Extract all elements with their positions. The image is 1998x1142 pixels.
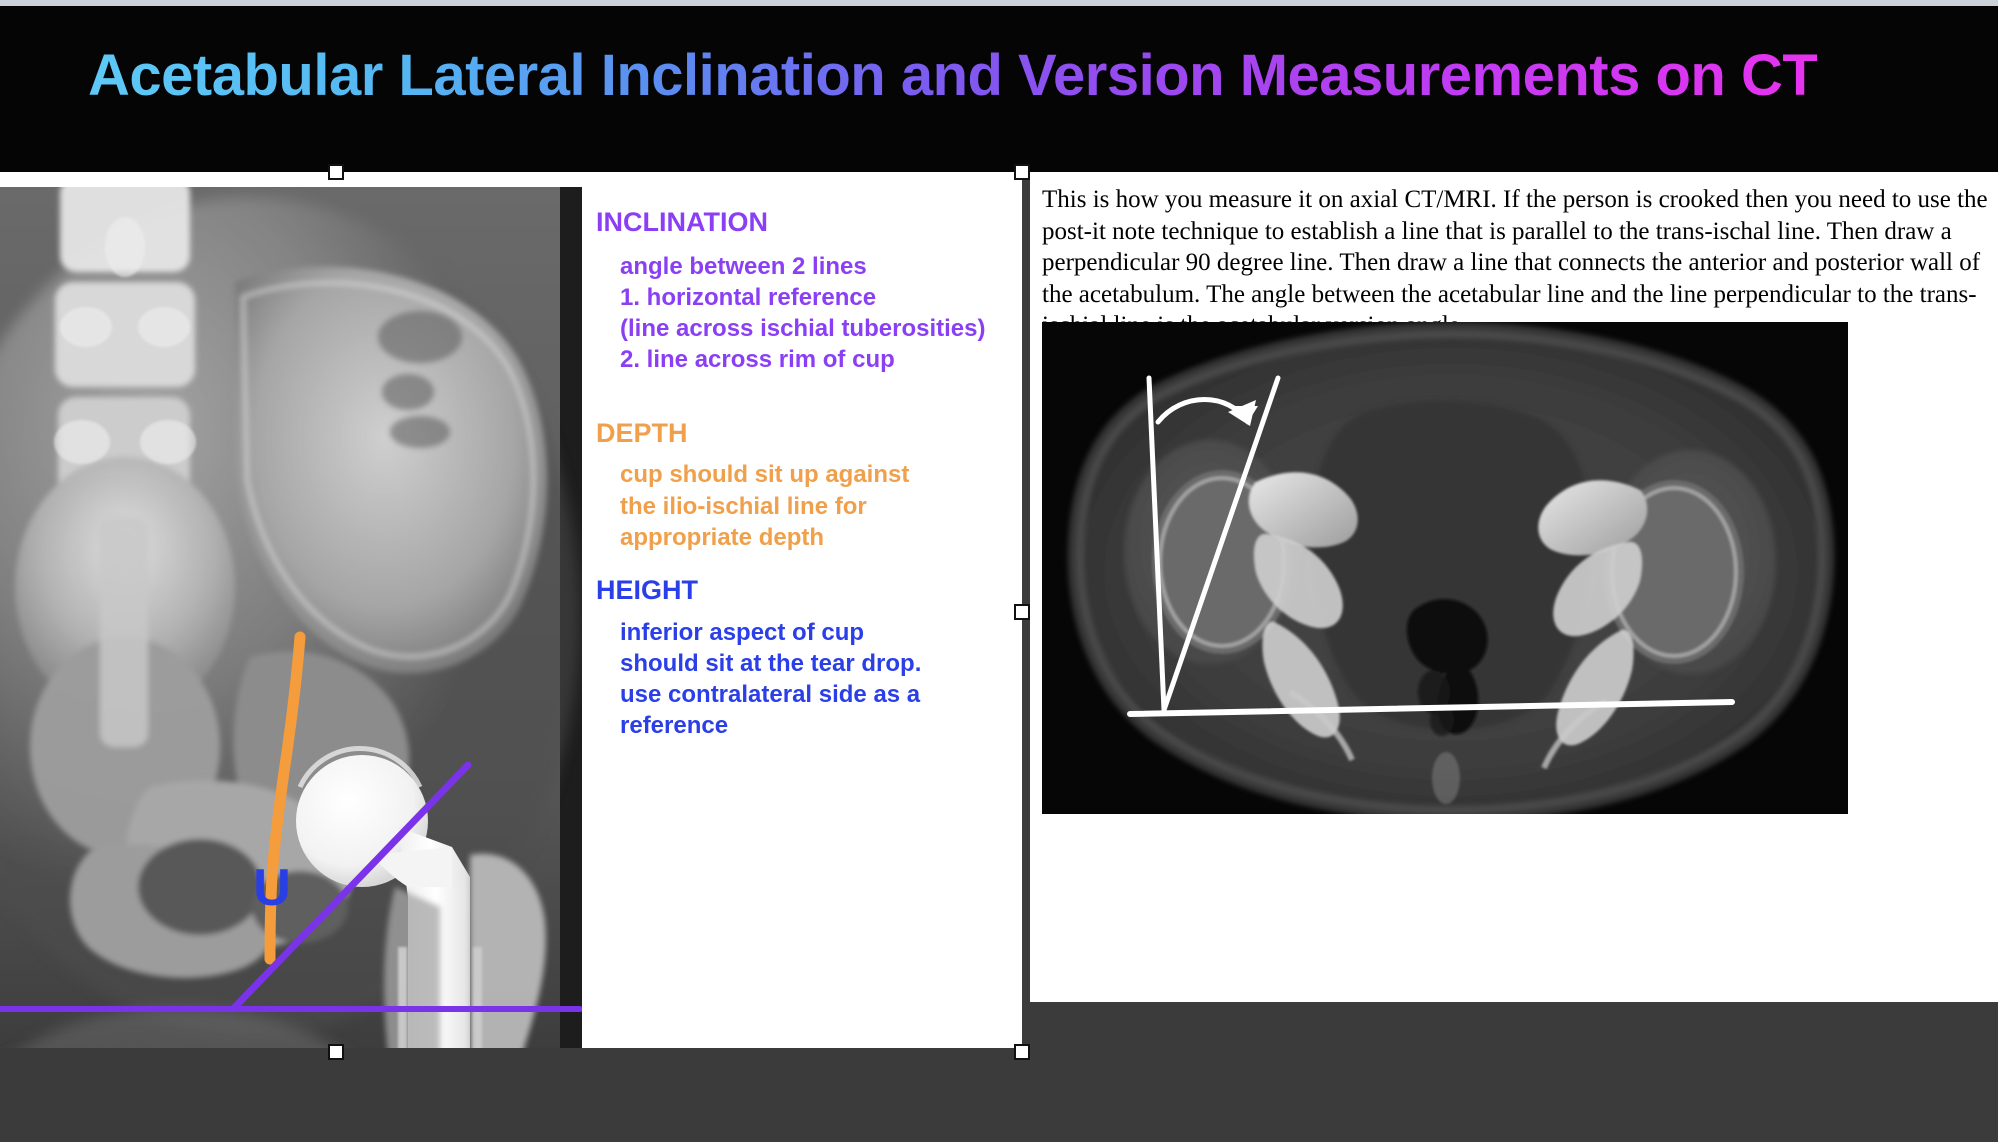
section-heading-height: HEIGHT [596,575,1016,607]
depth-line-1: cup should sit up against [620,459,1016,490]
ct-axial-image [1042,322,1848,814]
selection-handle-middle-right[interactable] [1014,604,1030,620]
height-line-2: should sit at the tear drop. [620,648,1016,679]
selection-handle-top-right[interactable] [1014,164,1030,180]
selection-handle-bottom-center[interactable] [328,1044,344,1060]
section-body-depth: cup should sit up against the ilio-ischi… [596,459,1016,553]
selection-handle-top-center[interactable] [328,164,344,180]
inclination-line-1: angle between 2 lines [620,251,1016,282]
title-banner: Acetabular Lateral Inclination and Versi… [0,6,1998,172]
height-line-1: inferior aspect of cup [620,617,1016,648]
height-line-3: use contralateral side as a [620,679,1016,710]
inclination-line-2: 1. horizontal reference [620,282,1016,313]
section-depth: DEPTH cup should sit up against the ilio… [596,418,1016,553]
depth-line-2: the ilio-ischial line for [620,491,1016,522]
document-pane: This is how you measure it on axial CT/M… [1030,172,1998,1002]
section-inclination: INCLINATION angle between 2 lines 1. hor… [596,207,1016,376]
section-body-height: inferior aspect of cup should sit at the… [596,617,1016,742]
height-line-4: reference [620,710,1016,741]
svg-text:U: U [253,859,291,917]
slide-annotation-list: INCLINATION angle between 2 lines 1. hor… [596,172,1016,1048]
section-heading-depth: DEPTH [596,418,1016,450]
inclination-line-3: (line across ischial tuberosities) [620,313,1016,344]
selection-handle-bottom-right[interactable] [1014,1044,1030,1060]
depth-line-3: appropriate depth [620,522,1016,553]
slide-object[interactable]: U 80 INCLINATION angle between 2 lines 1… [0,172,1022,1048]
section-body-inclination: angle between 2 lines 1. horizontal refe… [596,251,1016,376]
inclination-line-4: 2. line across rim of cup [620,344,1016,375]
page-title: Acetabular Lateral Inclination and Versi… [88,42,1817,109]
section-height: HEIGHT inferior aspect of cup should sit… [596,575,1016,742]
xray-image: U 80 [0,187,582,1048]
section-heading-inclination: INCLINATION [596,207,1016,239]
slide-content: U 80 INCLINATION angle between 2 lines 1… [0,172,1022,1048]
doc-paragraph-top: This is how you measure it on axial CT/M… [1042,184,1998,342]
